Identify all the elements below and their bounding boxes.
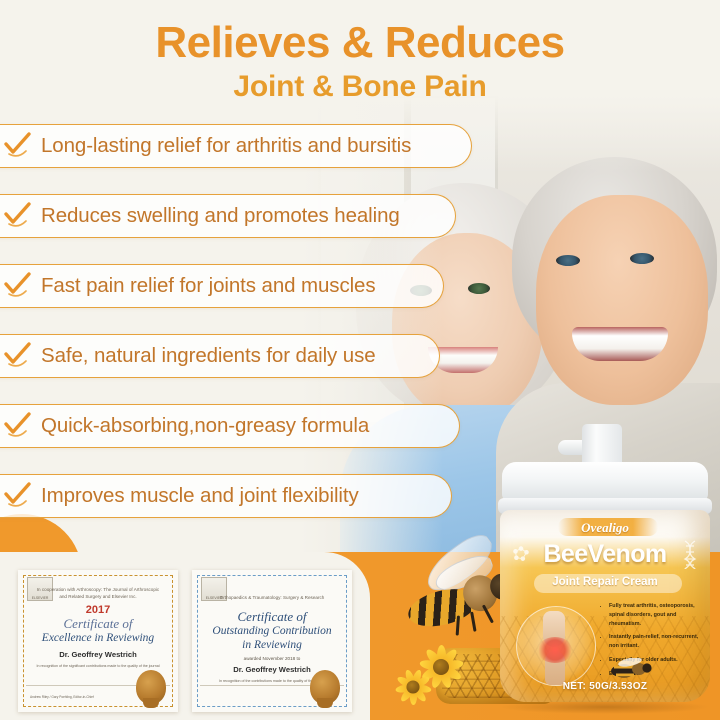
certificate-header: Orthopaedics & Traumatology: Surgery & R…	[208, 595, 336, 602]
benefit-item-5: Quick-absorbing,non-greasy formula	[0, 404, 460, 448]
product-bullet: Instantly pain-relief, non-recurrent, no…	[609, 633, 706, 651]
check-icon	[2, 411, 32, 441]
check-icon	[2, 341, 32, 371]
certificate-footer: In recognition of the significant contri…	[34, 664, 162, 669]
benefit-label: Improves muscle and joint flexibility	[41, 484, 359, 508]
sunflower-icon	[394, 668, 432, 706]
certificate-seal-icon	[310, 670, 340, 704]
check-icon	[2, 201, 32, 231]
certificate-header: In cooperation with Arthroscopy: The Jou…	[34, 587, 162, 601]
product-jar[interactable]: Ovealigo BeeVenom Joint Repair Cream Ful…	[496, 458, 714, 708]
certificate-signature: Andrew Riley / Gary Poehling, Editor-in-…	[30, 695, 94, 700]
headline-primary: Relieves & Reduces	[0, 20, 720, 66]
bee-leg	[470, 612, 476, 632]
benefit-item-1: Long-lasting relief for arthritis and bu…	[0, 124, 472, 168]
certificate-recipient: Dr. Geoffrey Westrich	[34, 650, 162, 659]
benefit-label: Fast pain relief for joints and muscles	[41, 274, 376, 298]
check-icon	[2, 481, 32, 511]
certificate-seal-icon	[136, 670, 166, 704]
bee-leg	[456, 615, 460, 635]
check-icon	[2, 271, 32, 301]
sunflower-center	[406, 680, 419, 693]
bee-icon	[610, 658, 654, 680]
ad-canvas: Relieves & Reduces Joint & Bone Pain Lon…	[0, 0, 720, 720]
jar-shadow	[500, 700, 710, 714]
certificate-title-line2: Outstanding Contribution in Reviewing	[208, 625, 336, 653]
benefit-item-4: Safe, natural ingredients for daily use	[0, 334, 440, 378]
certificate-title-line1: Certificate of	[208, 610, 336, 625]
product-name: BeeVenom	[500, 540, 710, 569]
benefit-item-6: Improves muscle and joint flexibility	[0, 474, 452, 518]
headline-block: Relieves & Reduces Joint & Bone Pain	[0, 20, 720, 104]
certificate-1: ELSEVIER In cooperation with Arthroscopy…	[18, 570, 178, 712]
sunflower-center	[433, 659, 449, 675]
benefits-list: Long-lasting relief for arthritis and bu…	[0, 124, 472, 544]
certificate-year: 2017	[34, 604, 162, 616]
product-bullet: Fully treat arthritis, osteoporosis, spi…	[609, 602, 706, 628]
jar-label: Ovealigo BeeVenom Joint Repair Cream Ful…	[500, 510, 710, 702]
product-subtitle: Joint Repair Cream	[500, 576, 710, 588]
check-icon	[2, 131, 32, 161]
benefit-label: Long-lasting relief for arthritis and bu…	[41, 134, 411, 158]
certificate-title-line2: Excellence in Reviewing	[34, 632, 162, 646]
headline-secondary: Joint & Bone Pain	[0, 70, 720, 104]
product-brand: Ovealigo	[500, 520, 710, 536]
benefit-item-3: Fast pain relief for joints and muscles	[0, 264, 444, 308]
jar-lid	[502, 462, 708, 502]
certificate-awarded-date: awarded November 2018 to	[208, 656, 336, 661]
pain-highlight	[537, 637, 573, 663]
certificates-group: ELSEVIER In cooperation with Arthroscopy…	[18, 570, 352, 712]
net-weight: NET: 50G/3.53OZ	[500, 681, 710, 692]
benefit-label: Quick-absorbing,non-greasy formula	[41, 414, 369, 438]
certificate-2: ELSEVIER Orthopaedics & Traumatology: Su…	[192, 570, 352, 712]
knee-joint-icon	[516, 606, 596, 686]
benefit-label: Safe, natural ingredients for daily use	[41, 344, 376, 368]
certificate-title-line1: Certificate of	[34, 617, 162, 632]
benefit-label: Reduces swelling and promotes healing	[41, 204, 400, 228]
benefit-item-2: Reduces swelling and promotes healing	[0, 194, 456, 238]
